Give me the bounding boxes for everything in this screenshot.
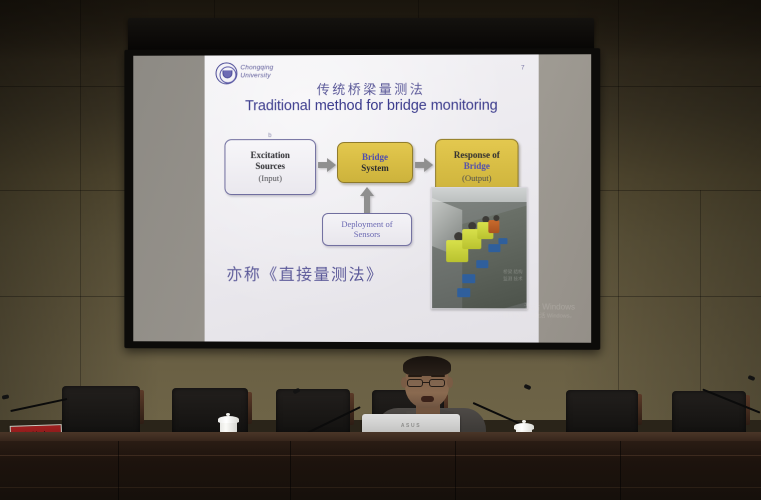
presenter-mouth	[421, 396, 434, 402]
presenter-ear-right	[447, 377, 453, 388]
photo-watermark-line1: 桥梁 结构	[503, 270, 522, 276]
teacup-knob	[522, 420, 526, 423]
presenter-eyebrow-left	[408, 375, 422, 377]
box-excitation-line3: (Input)	[258, 174, 282, 184]
diagram-box-excitation-sources: Excitation Sources (Input)	[224, 139, 316, 195]
chair	[276, 389, 350, 434]
teacup-knob	[226, 413, 230, 416]
desk-panel-seam	[118, 441, 119, 500]
desk-front-panel	[0, 441, 761, 500]
arrow-right-icon	[415, 158, 433, 172]
chair	[566, 390, 638, 434]
box-bridge-line2: System	[361, 162, 389, 172]
university-name-line1: Chongqing	[240, 64, 273, 72]
box-response-line1: Response of	[454, 150, 500, 160]
screen-frame: Chongqing University 7 传统桥梁量测法 Tradition…	[124, 48, 600, 350]
screen-surface: Chongqing University 7 传统桥梁量测法 Tradition…	[133, 54, 591, 343]
conference-hall-scene: Chongqing University 7 传统桥梁量测法 Tradition…	[0, 0, 761, 500]
laptop-brand-label: ASUS	[362, 423, 460, 429]
diagram-box-deployment-of-sensors: Deployment of Sensors	[322, 213, 412, 246]
slide-title-english: Traditional method for bridge monitoring	[205, 98, 539, 115]
box-response-line3: (Output)	[462, 174, 491, 184]
box-bridge-line1: Bridge	[362, 152, 388, 162]
photo-worker-head	[493, 215, 499, 221]
slide-title-chinese: 传统桥梁量测法	[205, 79, 539, 99]
box-excitation-line2: Sources	[255, 161, 285, 171]
arrow-right-icon	[318, 158, 336, 172]
photo-watermark-line2: 监测 技术	[503, 276, 522, 282]
photo-equipment-case	[462, 274, 475, 283]
desk-panel-seam	[620, 441, 621, 500]
screen-valance-housing	[128, 18, 594, 52]
teacup-lid	[514, 423, 534, 430]
eyeglasses-bridge	[423, 382, 429, 383]
desk-moulding-line	[0, 487, 761, 488]
photo-equipment-case	[476, 260, 488, 268]
projection-screen: Chongqing University 7 传统桥梁量测法 Tradition…	[123, 18, 599, 348]
university-name: Chongqing University	[240, 64, 273, 80]
photo-equipment-case	[488, 244, 500, 252]
photo-worker-vest-orange	[488, 220, 499, 233]
chair	[672, 391, 746, 434]
desk-moulding-line	[0, 455, 761, 456]
teacup-lid	[218, 416, 239, 423]
presenter-hair	[403, 356, 451, 376]
photo-equipment-case	[457, 288, 470, 297]
box-deploy-line2: Sensors	[354, 229, 380, 239]
chair	[62, 386, 140, 434]
box-excitation-line1: Excitation	[251, 150, 290, 160]
diagram-box-bridge-system: Bridge System	[337, 142, 413, 183]
slide-number: 7	[521, 64, 525, 71]
bridge-sensor-photo: 桥梁 结构 监测 技术	[431, 187, 528, 309]
photo-watermark: 桥梁 结构 监测 技术	[503, 270, 522, 283]
arrow-up-icon	[360, 187, 374, 213]
photo-equipment-case	[498, 238, 507, 244]
box-response-line2: Bridge	[464, 160, 490, 170]
presenter-eyebrow-right	[431, 375, 445, 377]
eyeglasses-icon	[407, 379, 423, 387]
slide-bottom-chinese-text: 亦称《直接量测法》	[226, 261, 383, 285]
desk-panel-seam	[455, 441, 456, 500]
presentation-slide: Chongqing University 7 传统桥梁量测法 Tradition…	[205, 54, 539, 342]
eyeglasses-icon	[429, 379, 445, 387]
desk-panel-seam	[290, 441, 291, 500]
